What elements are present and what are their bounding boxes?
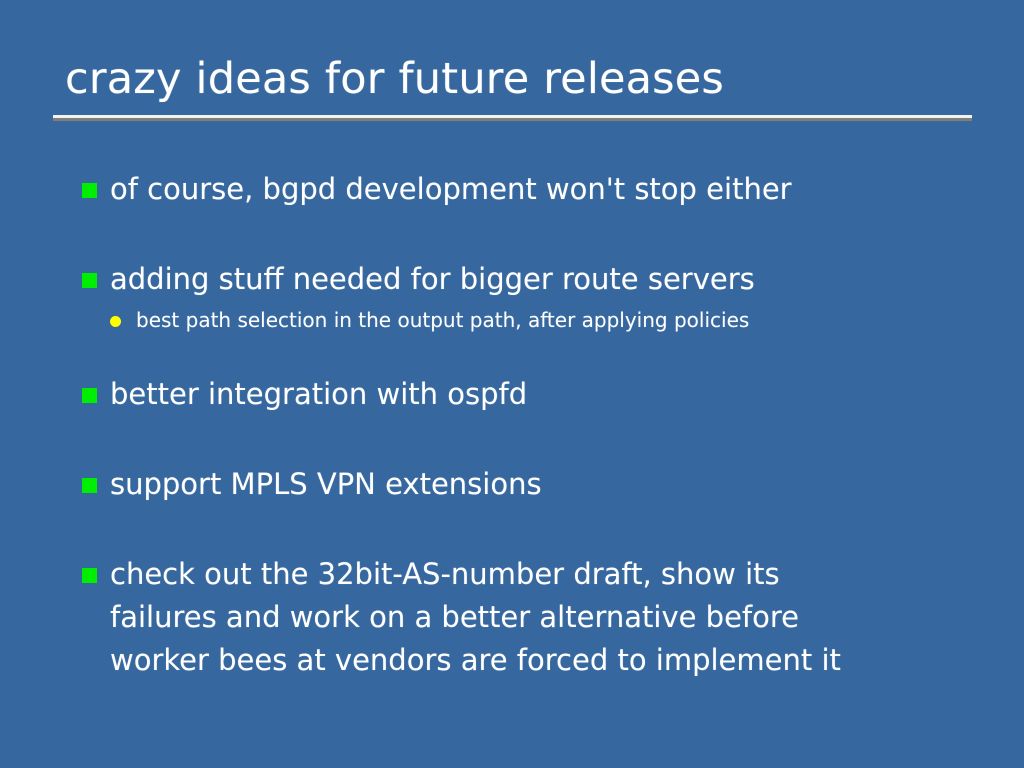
list-item: check out the 32bit-AS-number draft, sho…	[82, 553, 982, 682]
green-square-bullet-icon	[82, 478, 97, 493]
green-square-bullet-icon	[82, 568, 97, 583]
sub-list-item-label: best path selection in the output path, …	[136, 305, 982, 335]
list-item-label: check out the 32bit-AS-number draft, sho…	[110, 553, 982, 682]
slide-bullet-list: of course, bgpd development won't stop e…	[82, 168, 982, 682]
list-item: adding stuff needed for bigger route ser…	[82, 258, 982, 301]
list-item-label: support MPLS VPN extensions	[110, 463, 982, 506]
green-square-bullet-icon	[82, 273, 97, 288]
list-item: of course, bgpd development won't stop e…	[82, 168, 982, 211]
list-item-label: adding stuff needed for bigger route ser…	[110, 258, 982, 301]
presentation-slide: crazy ideas for future releases of cours…	[0, 0, 1024, 768]
yellow-dot-bullet-icon	[110, 316, 121, 327]
green-square-bullet-icon	[82, 388, 97, 403]
slide-title-block: crazy ideas for future releases	[53, 52, 972, 121]
list-item: support MPLS VPN extensions	[82, 463, 982, 506]
sub-list-item: best path selection in the output path, …	[110, 305, 982, 335]
page-title: crazy ideas for future releases	[53, 52, 972, 106]
green-square-bullet-icon	[82, 183, 97, 198]
title-underline-rule	[53, 115, 972, 121]
list-item-label: better integration with ospfd	[110, 373, 982, 416]
list-item: better integration with ospfd	[82, 373, 982, 416]
list-item-label: of course, bgpd development won't stop e…	[110, 168, 982, 211]
